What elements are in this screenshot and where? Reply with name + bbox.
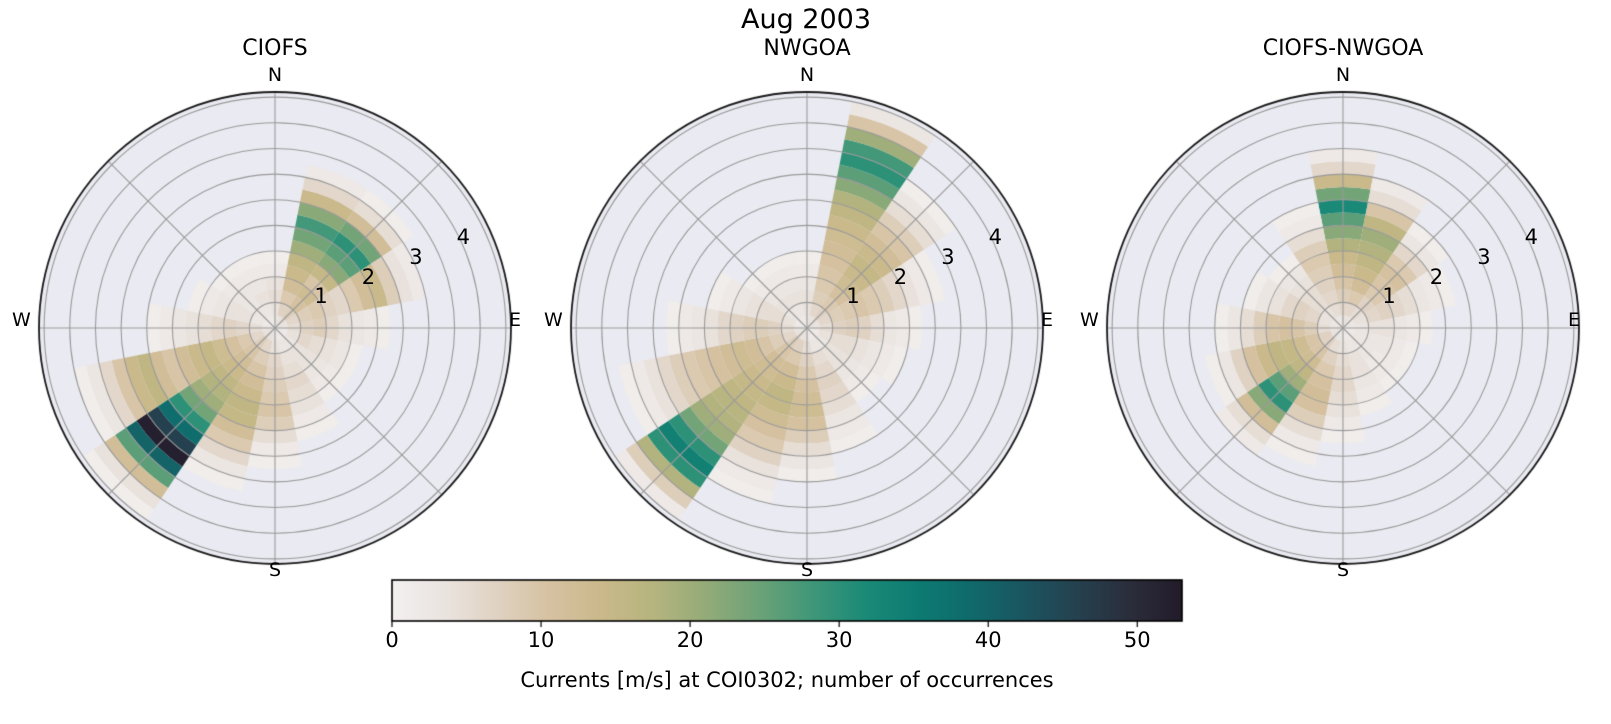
compass-east-p3: E <box>1568 311 1580 330</box>
compass-east-p2: E <box>1041 311 1053 330</box>
radial-tick-2-p3: 2 <box>1430 267 1443 288</box>
polar-rose-figure <box>0 0 1611 724</box>
compass-south-p1: S <box>269 561 281 580</box>
radial-tick-3-p2: 3 <box>941 247 954 268</box>
compass-south-p3: S <box>1337 561 1349 580</box>
radial-tick-3-p3: 3 <box>1477 247 1490 268</box>
compass-west-p1: W <box>12 311 31 330</box>
radial-tick-4-p1: 4 <box>457 227 470 248</box>
figure-suptitle: Aug 2003 <box>741 6 871 33</box>
radial-tick-4-p2: 4 <box>989 227 1002 248</box>
radial-tick-1-p1: 1 <box>314 286 327 307</box>
colorbar-tick-30: 30 <box>826 630 853 651</box>
compass-south-p2: S <box>801 561 813 580</box>
compass-north-p2: N <box>800 66 814 85</box>
panel-title-ciofs-nwgoa: CIOFS-NWGOA <box>1263 38 1424 60</box>
compass-west-p2: W <box>544 311 563 330</box>
compass-north-p1: N <box>268 66 282 85</box>
radial-tick-4-p3: 4 <box>1525 227 1538 248</box>
colorbar-tick-20: 20 <box>677 630 704 651</box>
compass-east-p1: E <box>509 311 521 330</box>
radial-tick-1-p2: 1 <box>846 286 859 307</box>
colorbar-tick-0: 0 <box>385 630 398 651</box>
panel-title-ciofs: CIOFS <box>242 38 307 60</box>
colorbar-tick-10: 10 <box>528 630 555 651</box>
compass-west-p3: W <box>1080 311 1099 330</box>
colorbar-tick-40: 40 <box>975 630 1002 651</box>
colorbar-axis-label: Currents [m/s] at COI0302; number of occ… <box>520 670 1053 691</box>
compass-north-p3: N <box>1336 66 1350 85</box>
radial-tick-2-p2: 2 <box>894 267 907 288</box>
radial-tick-1-p3: 1 <box>1382 286 1395 307</box>
panel-title-nwgoa: NWGOA <box>763 38 850 60</box>
figure-canvas-stage: Aug 2003 CIOFS N S W E NWGOA N S W E CIO… <box>0 0 1611 724</box>
radial-tick-3-p1: 3 <box>409 247 422 268</box>
colorbar-tick-50: 50 <box>1124 630 1151 651</box>
radial-tick-2-p1: 2 <box>362 267 375 288</box>
